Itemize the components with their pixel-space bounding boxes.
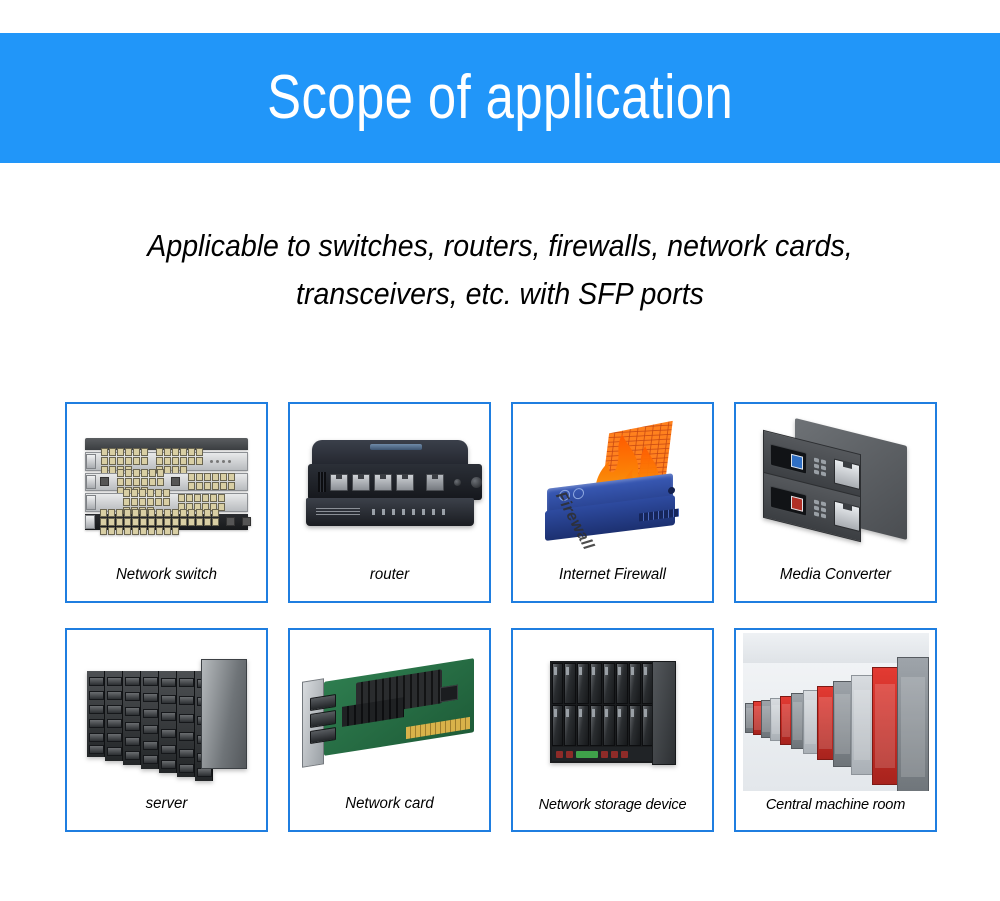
header-banner: Scope of application <box>0 33 1000 163</box>
subtitle-line-2: transceivers, etc. with SFP ports <box>40 270 960 318</box>
data-center-photo <box>736 630 935 794</box>
device-grid: Network switch router <box>65 402 937 832</box>
server-rack-photo <box>67 630 266 793</box>
device-card-label: Network switch <box>70 564 263 601</box>
network-switch-photo <box>67 404 266 564</box>
device-card-label: Network storage device <box>516 794 709 830</box>
device-card-router[interactable]: router <box>288 402 491 603</box>
device-card-internet-firewall[interactable]: Firewall Internet Firewall <box>511 402 714 603</box>
network-storage-photo <box>513 630 712 794</box>
device-card-server[interactable]: server <box>65 628 268 832</box>
router-photo <box>290 404 489 564</box>
device-card-central-machine-room[interactable]: Central machine room <box>734 628 937 832</box>
network-card-photo <box>290 630 489 793</box>
device-card-label: Network card <box>293 793 486 830</box>
media-converter-photo <box>736 404 935 564</box>
device-card-network-switch[interactable]: Network switch <box>65 402 268 603</box>
device-card-network-storage[interactable]: Network storage device <box>511 628 714 832</box>
device-card-label: Media Converter <box>739 564 932 601</box>
page-title: Scope of application <box>267 67 733 129</box>
device-card-media-converter[interactable]: Media Converter <box>734 402 937 603</box>
device-card-label: server <box>70 793 263 830</box>
subtitle-block: Applicable to switches, routers, firewal… <box>0 222 1000 318</box>
device-card-network-card[interactable]: Network card <box>288 628 491 832</box>
firewall-photo: Firewall <box>513 404 712 564</box>
device-card-label: router <box>293 564 486 601</box>
device-card-label: Internet Firewall <box>516 564 709 601</box>
subtitle-line-1: Applicable to switches, routers, firewal… <box>40 222 960 270</box>
device-card-label: Central machine room <box>739 794 932 830</box>
